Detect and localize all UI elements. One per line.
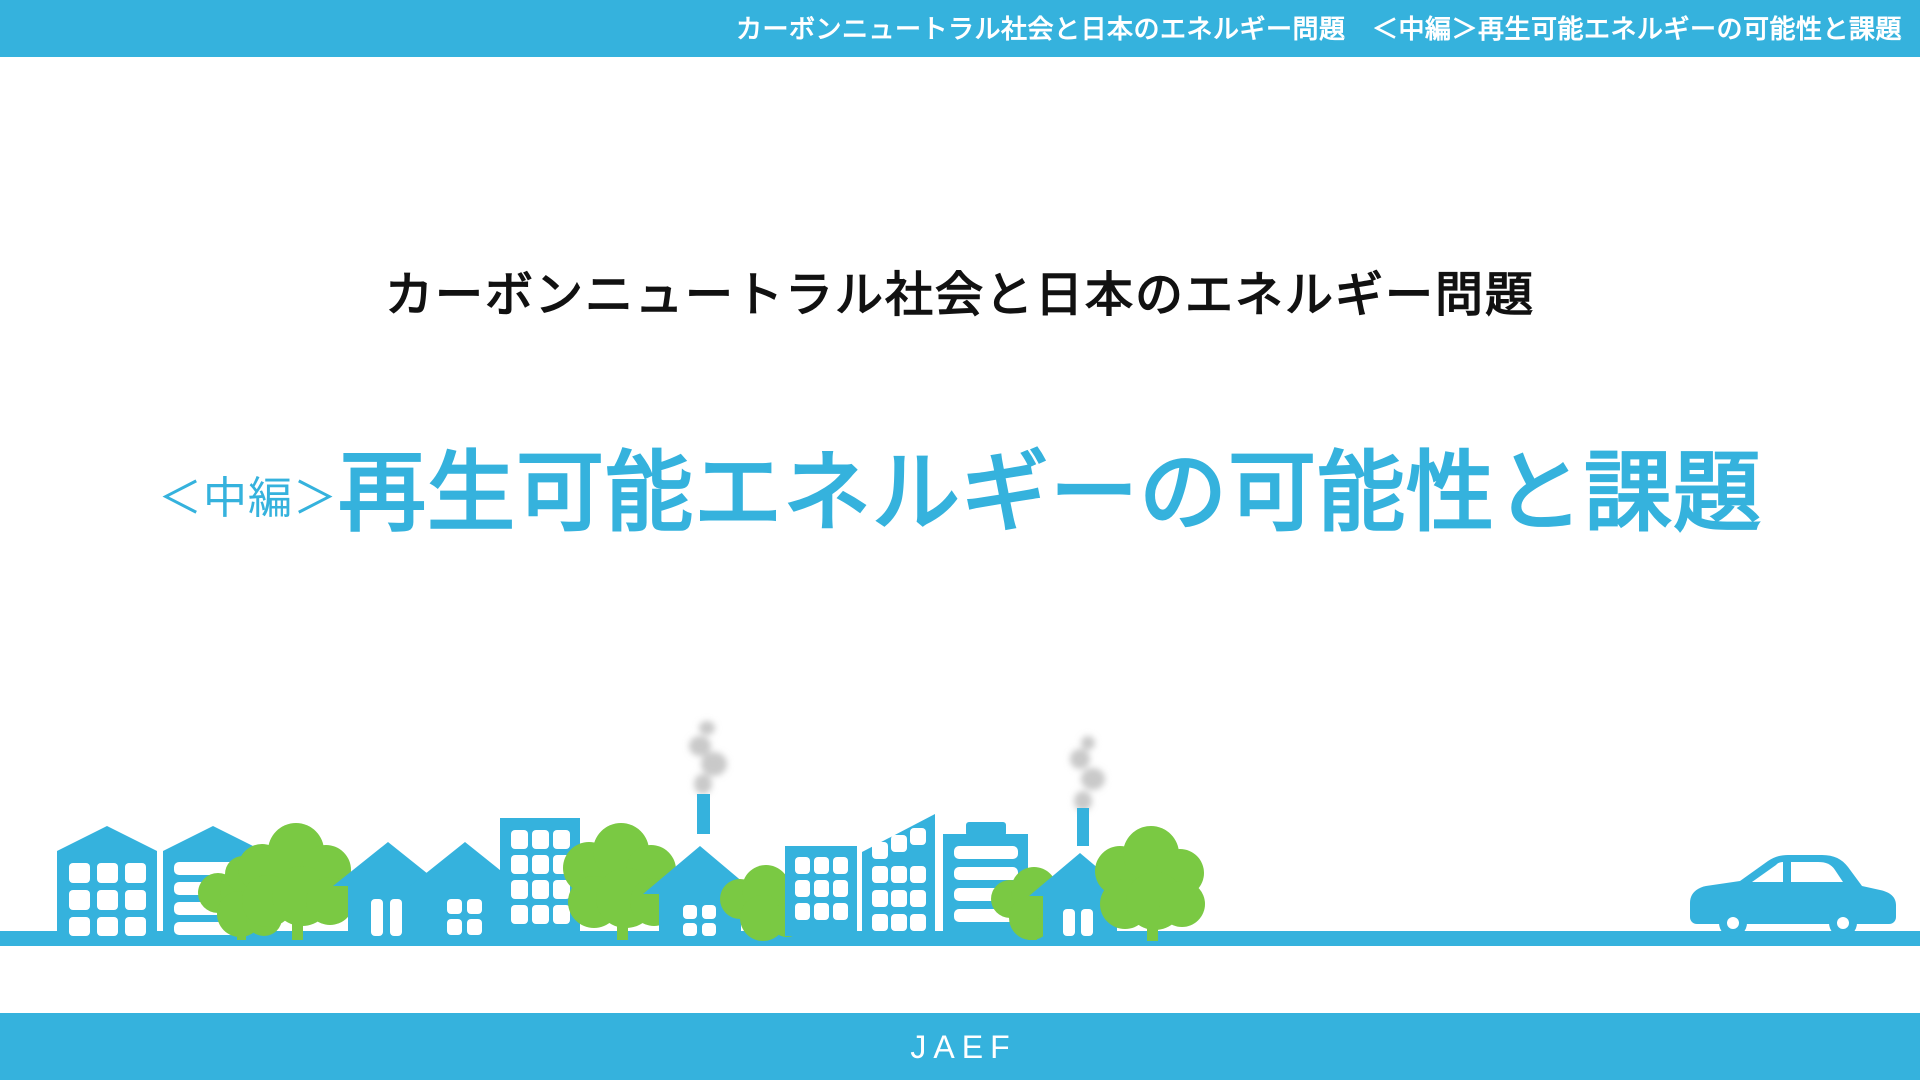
car-wheels-inner xyxy=(1727,917,1849,929)
tree-large-3 xyxy=(1095,826,1205,941)
house-2 xyxy=(410,842,520,936)
building-grid-1 xyxy=(500,818,580,936)
jaef-logo: JAEF xyxy=(903,1031,1016,1063)
house-1 xyxy=(333,842,443,936)
cityscape-illustration xyxy=(0,646,1920,946)
tree-large-1 xyxy=(238,823,354,940)
smoke-plume-1 xyxy=(689,721,727,794)
smoke-plume-2 xyxy=(1070,736,1105,811)
tree-small-2 xyxy=(720,865,810,941)
chimney-1 xyxy=(697,794,710,834)
building-hospital xyxy=(943,822,1028,936)
tree-large-2 xyxy=(563,823,678,940)
car-icon xyxy=(1690,855,1896,937)
car-windows xyxy=(1752,862,1843,882)
building-striped-1 xyxy=(163,826,263,936)
house-chimney-1 xyxy=(643,721,757,936)
ground-line xyxy=(0,931,1920,946)
building-slanted-tower xyxy=(862,814,935,936)
header-title: カーボンニュートラル社会と日本のエネルギー問題 ＜中編＞再生可能エネルギーの可能… xyxy=(736,16,1902,42)
slide-body: カーボンニュートラル社会と日本のエネルギー問題 ＜中編＞再生可能エネルギーの可能… xyxy=(0,57,1920,1013)
building-apartment-1 xyxy=(57,826,157,936)
tree-small-3 xyxy=(991,867,1076,940)
page-title: カーボンニュートラル社会と日本のエネルギー問題 xyxy=(0,267,1920,325)
building-grid-2 xyxy=(785,846,857,936)
subtitle-prefix: ＜中編＞ xyxy=(158,474,338,523)
header-bar: カーボンニュートラル社会と日本のエネルギー問題 ＜中編＞再生可能エネルギーの可能… xyxy=(0,0,1920,57)
chimney-2 xyxy=(1077,808,1089,846)
house-chimney-2 xyxy=(1029,736,1131,936)
subtitle-text: 再生可能エネルギーの可能性と課題 xyxy=(338,443,1762,542)
subtitle-row: ＜中編＞再生可能エネルギーの可能性と課題 xyxy=(0,442,1920,543)
tree-small-1 xyxy=(198,856,288,940)
footer-bar: JAEF xyxy=(0,1013,1920,1080)
